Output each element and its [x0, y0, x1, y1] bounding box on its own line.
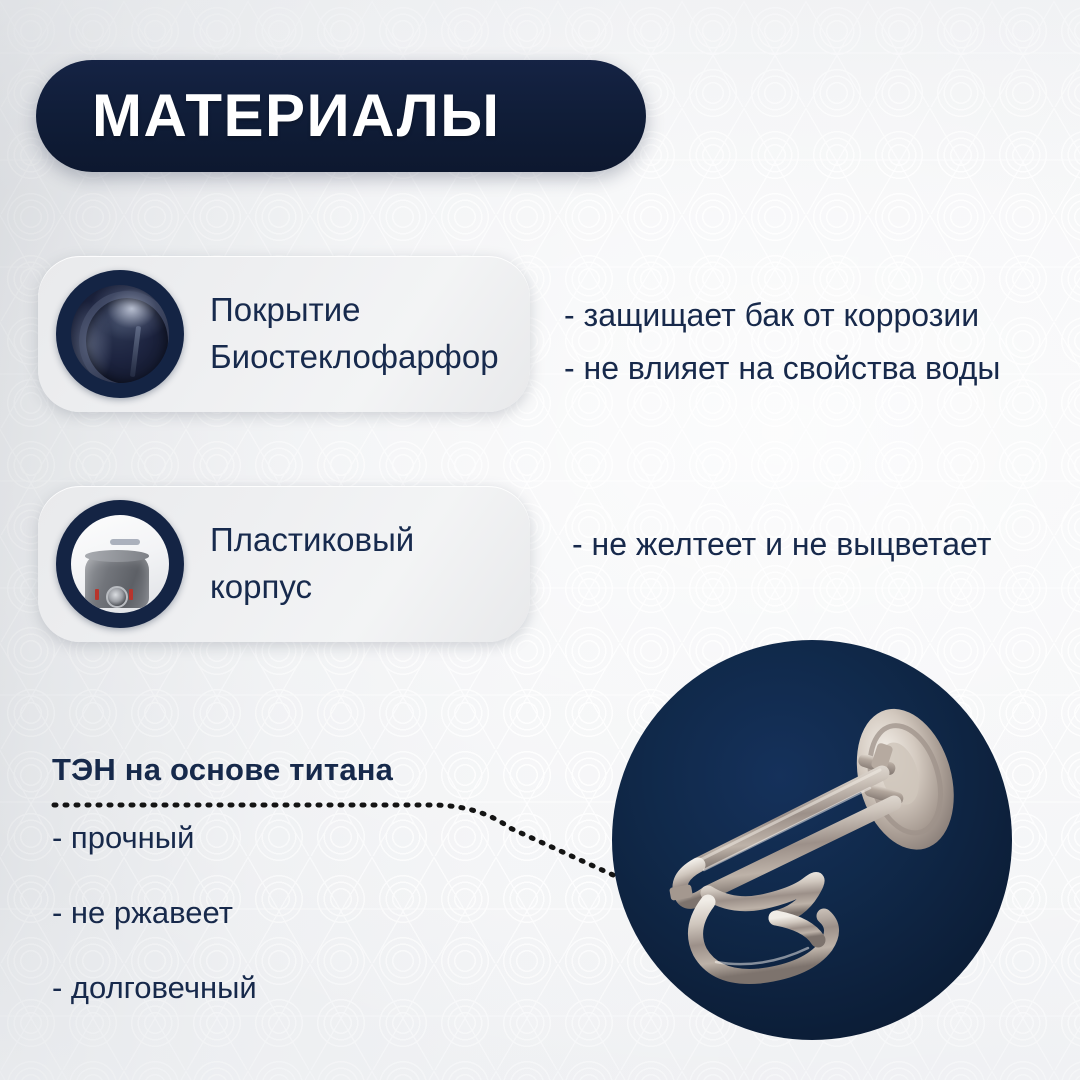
material-icon-body [56, 500, 184, 628]
material-card-body[interactable]: Пластиковый корпус [38, 486, 530, 642]
heater-indicator-left [95, 589, 99, 600]
material-card-body-label: Пластиковый корпус [210, 517, 414, 611]
element-bends [680, 865, 832, 977]
infographic-page: МАТЕРИАЛЫ Покрытие Биостеклофарфор - защ… [0, 0, 1080, 1080]
feature-item: - защищает бак от коррозии [564, 289, 1000, 342]
heater-brand-logo [110, 539, 140, 545]
material-card-coating-label-line1: Покрытие [210, 287, 499, 334]
heater-indicator-right [129, 589, 133, 600]
heating-element-image-circle [612, 640, 1012, 1040]
material-card-coating[interactable]: Покрытие Биостеклофарфор [38, 256, 530, 412]
dotted-arrow-line [54, 805, 635, 885]
material-card-body-label-line1: Пластиковый [210, 517, 414, 564]
material-card-coating-label: Покрытие Биостеклофарфор [210, 287, 499, 381]
tank-interior-photo [71, 285, 169, 383]
heating-element-feature-item: - долговечный [52, 972, 393, 1003]
material-icon-coating [56, 270, 184, 398]
element-tubes [696, 770, 894, 893]
titanium-heating-element-photo [612, 640, 1012, 1040]
dotted-arrow-pointer [40, 780, 700, 900]
material-card-coating-label-line2: Биостеклофарфор [210, 334, 499, 381]
feature-item: - не желтеет и не выцветает [572, 518, 991, 571]
heater-thermostat-dial [106, 586, 128, 608]
water-heater-photo [71, 515, 169, 613]
feature-item: - не влияет на свойства воды [564, 342, 1000, 395]
page-title: МАТЕРИАЛЫ [92, 86, 501, 146]
feature-list-body: - не желтеет и не выцветает [572, 518, 991, 571]
feature-list-coating: - защищает бак от коррозии - не влияет н… [564, 289, 1000, 395]
material-card-body-label-line2: корпус [210, 564, 414, 611]
heating-element-feature-item: - не ржавеет [52, 897, 393, 928]
page-title-pill: МАТЕРИАЛЫ [36, 60, 646, 172]
